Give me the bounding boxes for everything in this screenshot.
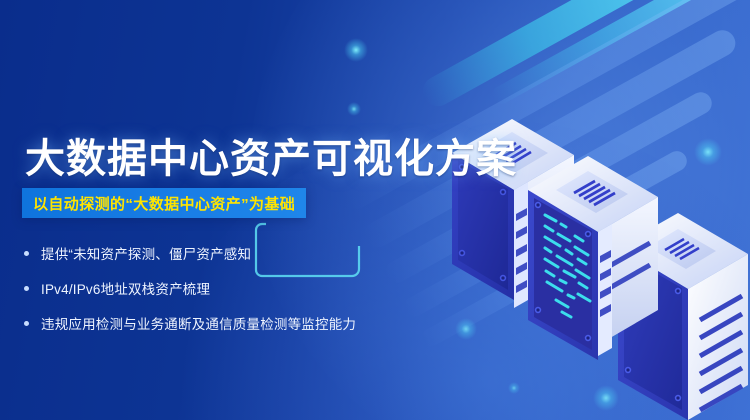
bullet-dot-icon bbox=[24, 321, 29, 326]
feature-list: 提供“未知资产探测、僵尸资产感知 IPv4/IPv6地址双栈资产梳理 违规应用检… bbox=[24, 238, 444, 343]
subtitle-banner: 以自动探测的“大数据中心资产”为基础 bbox=[22, 188, 306, 218]
list-item-label: 提供“未知资产探测、僵尸资产感知 bbox=[41, 243, 251, 263]
list-item: IPv4/IPv6地址双栈资产梳理 bbox=[24, 273, 444, 303]
page-title: 大数据中心资产可视化方案 bbox=[25, 126, 517, 184]
list-item-label: IPv4/IPv6地址双栈资产梳理 bbox=[41, 278, 210, 298]
list-item-label: 违规应用检测与业务通断及通信质量检测等监控能力 bbox=[41, 313, 356, 333]
bullet-dot-icon bbox=[24, 286, 29, 291]
bullet-dot-icon bbox=[24, 251, 29, 256]
banner-root: 大数据中心资产可视化方案 以自动探测的“大数据中心资产”为基础 提供“未知资产探… bbox=[0, 0, 750, 420]
list-item: 违规应用检测与业务通断及通信质量检测等监控能力 bbox=[24, 308, 444, 338]
text-content: 大数据中心资产可视化方案 以自动探测的“大数据中心资产”为基础 提供“未知资产探… bbox=[0, 0, 460, 420]
subtitle-text: 以自动探测的“大数据中心资产”为基础 bbox=[33, 193, 295, 214]
list-item: 提供“未知资产探测、僵尸资产感知 bbox=[24, 238, 444, 268]
